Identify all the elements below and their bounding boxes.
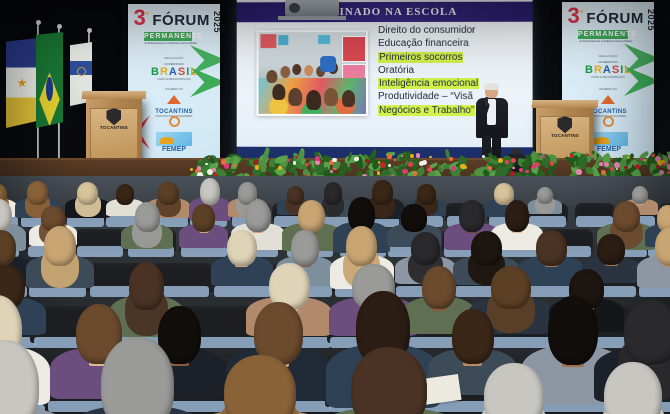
auditorium-seat [75, 229, 125, 252]
attendee-head [77, 182, 98, 205]
attendee-head [411, 232, 440, 265]
attendee-head [116, 184, 134, 205]
attendee-head [192, 204, 216, 232]
attendee-head [27, 181, 48, 205]
attendee-head [346, 226, 377, 266]
projector [285, 0, 339, 16]
attendee-head [324, 182, 343, 204]
slide-photo [257, 30, 368, 116]
banner-left-forum-word: FÓRUM [152, 12, 210, 29]
governo-do-brasil-logo: GOVERNO DO BRASIL UNIÃO E RECONSTRUÇÃO [128, 62, 220, 81]
attendee-head [422, 266, 456, 310]
banner-left-realizacao-label: REALIZAÇÃO [128, 56, 220, 60]
governo-do-brasil-logo: GOVERNO DO BRASIL UNIÃO E RECONSTRUÇÃO [562, 60, 654, 79]
attendee-head [452, 309, 494, 364]
attendee-head [101, 337, 174, 414]
attendee-head [129, 262, 164, 310]
attendee-head [417, 184, 436, 205]
attendee-head [227, 230, 257, 266]
banner-right-realizacao-label: REALIZAÇÃO [562, 54, 654, 58]
banner-left-tagline: de Enfrentamento à Violência contra a Mu… [140, 42, 202, 45]
banner-left-number: 3 [134, 9, 146, 27]
attendee-head [224, 355, 296, 414]
banner-right-tagline: de Enfrentamento à Violência contra a Mu… [574, 40, 638, 43]
projector-shelf [278, 16, 346, 20]
podium-left: TOCANTINS [86, 97, 142, 167]
banner-right-forum-word: FÓRUM [586, 10, 644, 27]
slide-bullet: Oratória [378, 66, 529, 76]
attendee-head [537, 187, 553, 205]
banner-right-number: 3 [568, 7, 580, 25]
attendee-head [613, 201, 641, 232]
attendee-head [536, 230, 568, 265]
auditorium-seat [575, 203, 615, 222]
banner-right-permanente: PERMANENTE [578, 30, 628, 39]
attendee-head [471, 231, 503, 266]
flag-tocantins [6, 38, 38, 128]
attendee-head [548, 296, 598, 366]
attendee-head [484, 363, 544, 414]
slide-bullet: Direito do consumidor [378, 26, 529, 36]
projector-lens-icon [289, 3, 300, 13]
attendee-head [287, 186, 305, 205]
banner-left-permanente: PERMANENTE [144, 32, 192, 41]
attendee-head [245, 200, 271, 232]
attendee-head [459, 200, 486, 233]
attendee-head [372, 180, 392, 205]
banner-left-degree: ° [146, 10, 150, 20]
slide-bullet: Primeiros socorros [378, 52, 529, 62]
conference-photo: 3 ° FÓRUM 2025 PERMANENTE de Enfrentamen… [0, 0, 670, 414]
attendee-head [505, 200, 530, 232]
audience-area [0, 176, 670, 414]
slide-bullet: Educação financeira [378, 39, 529, 49]
banner-left-year: 2025 [212, 11, 220, 33]
flag-brazil [36, 32, 63, 128]
attendee-head [632, 186, 649, 204]
attendee-head [135, 202, 160, 232]
attendee-head [291, 230, 318, 265]
attendee-head [401, 204, 427, 231]
attendee-head [158, 182, 179, 205]
attendee-head [351, 347, 427, 414]
attendee-head [298, 200, 326, 232]
banner-right-year: 2025 [646, 9, 654, 31]
microphone-icon [485, 97, 488, 106]
attendee-head [597, 234, 625, 265]
banner-right-degree: ° [580, 8, 584, 18]
attendee-head [200, 178, 220, 206]
tocantins-seal-icon [107, 108, 122, 125]
tocantins-seal-icon [558, 116, 573, 133]
floral-arrangement [186, 146, 670, 178]
attendee-head [624, 300, 670, 365]
attendee-head [44, 226, 76, 266]
attendee-head [491, 266, 531, 309]
